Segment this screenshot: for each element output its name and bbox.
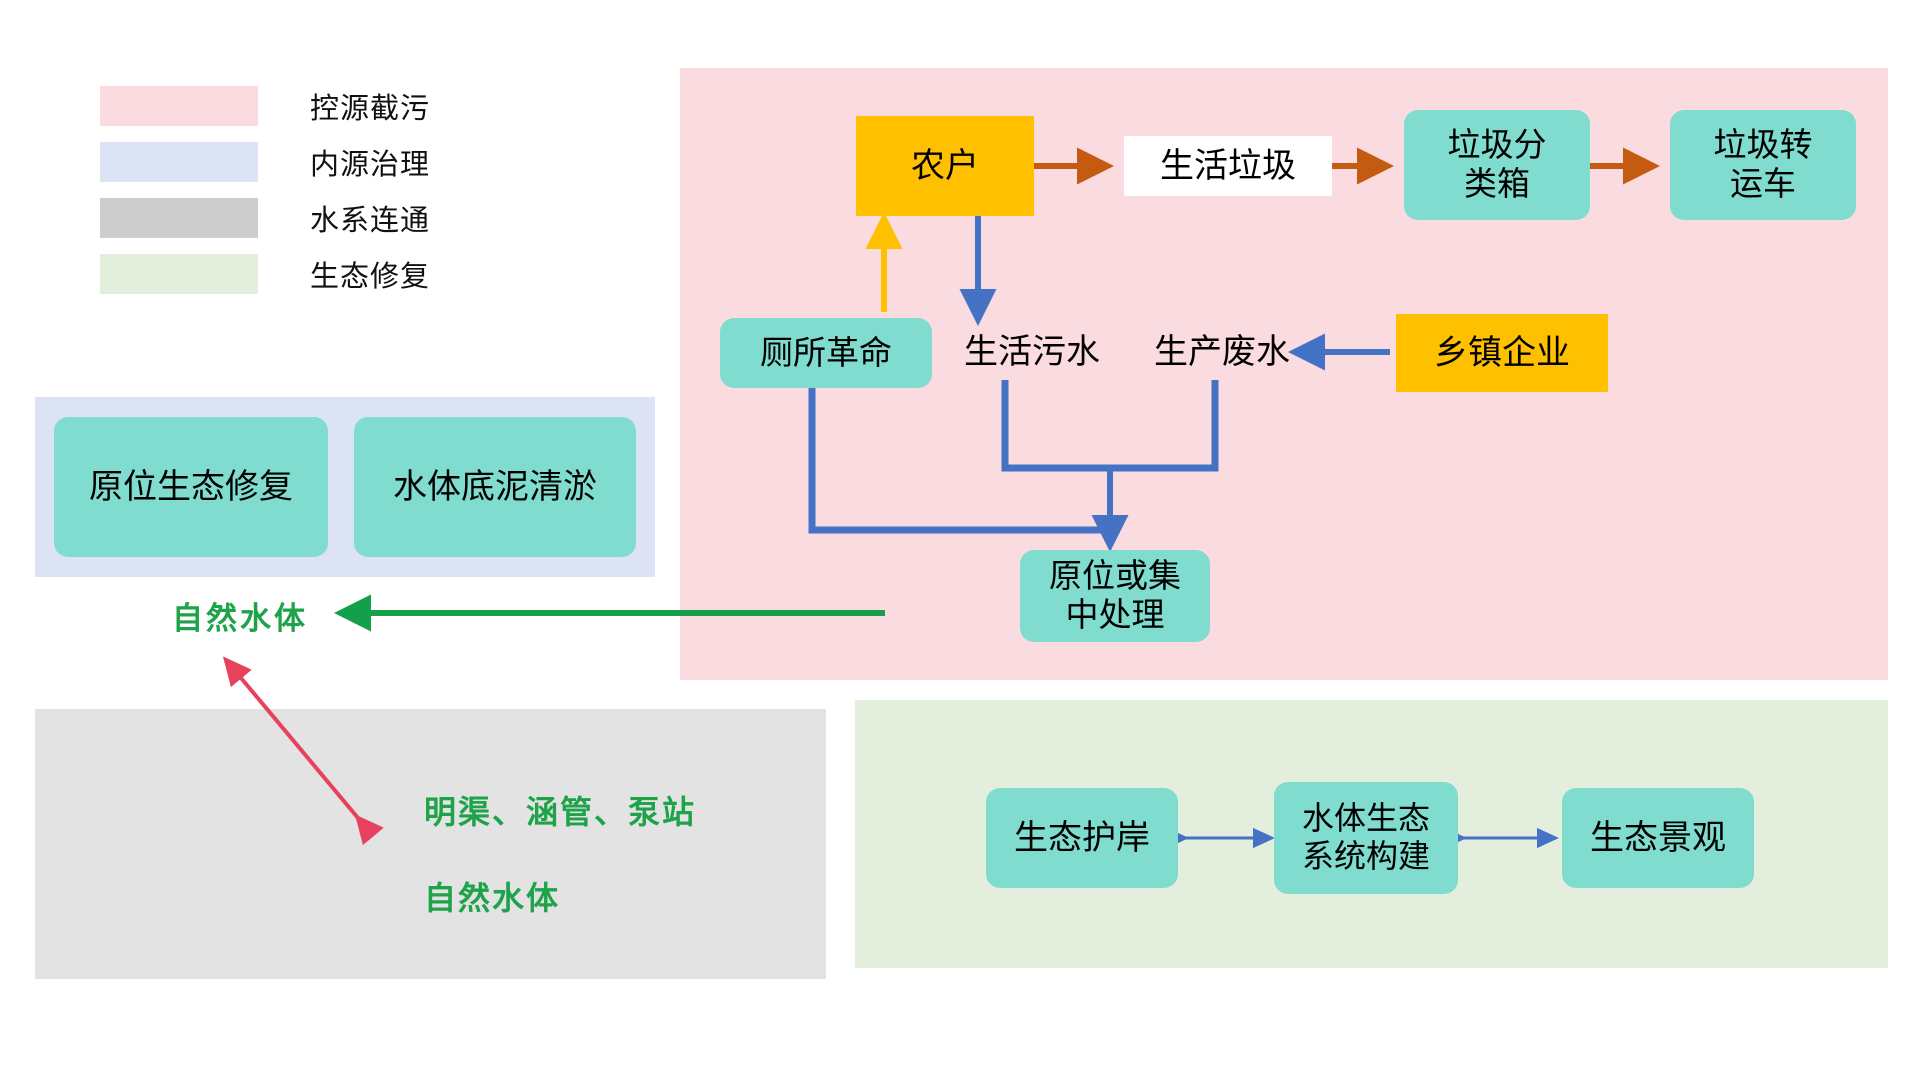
label-channels-culverts-pumpstations: 明渠、涵管、泵站	[424, 787, 696, 833]
node-production-wastewater: 生产废水	[1128, 320, 1316, 384]
node-domestic-waste[interactable]: 生活垃圾	[1124, 136, 1332, 196]
diagram-canvas: 控源截污 内源治理 水系连通 生态修复	[0, 0, 1920, 1080]
node-eco-revetment[interactable]: 生态护岸	[986, 788, 1178, 888]
label-natural-water-body-gray: 自然水体	[424, 873, 560, 919]
node-sediment-dredging[interactable]: 水体底泥清淤	[354, 417, 636, 557]
node-transfer-truck[interactable]: 垃圾转 运车	[1670, 110, 1856, 220]
node-domestic-sewage: 生活污水	[938, 320, 1126, 384]
connector-toilet-revolution-to-treatment	[812, 380, 1110, 530]
node-water-eco-system-construction[interactable]: 水体生态 系统构建	[1274, 782, 1458, 894]
node-sorting-bin[interactable]: 垃圾分 类箱	[1404, 110, 1590, 220]
node-township-enterprise[interactable]: 乡镇企业	[1396, 314, 1608, 392]
double-arrow-natural-water-to-channels	[226, 660, 358, 818]
node-in-situ-eco-restoration[interactable]: 原位生态修复	[54, 417, 328, 557]
node-household[interactable]: 农户	[856, 116, 1034, 216]
label-natural-water-body: 自然水体	[172, 593, 308, 638]
node-eco-landscape[interactable]: 生态景观	[1562, 788, 1754, 888]
connector-sewage-merge	[1005, 380, 1215, 546]
node-inplace-or-central-treatment[interactable]: 原位或集 中处理	[1020, 550, 1210, 642]
node-toilet-revolution[interactable]: 厕所革命	[720, 318, 932, 388]
